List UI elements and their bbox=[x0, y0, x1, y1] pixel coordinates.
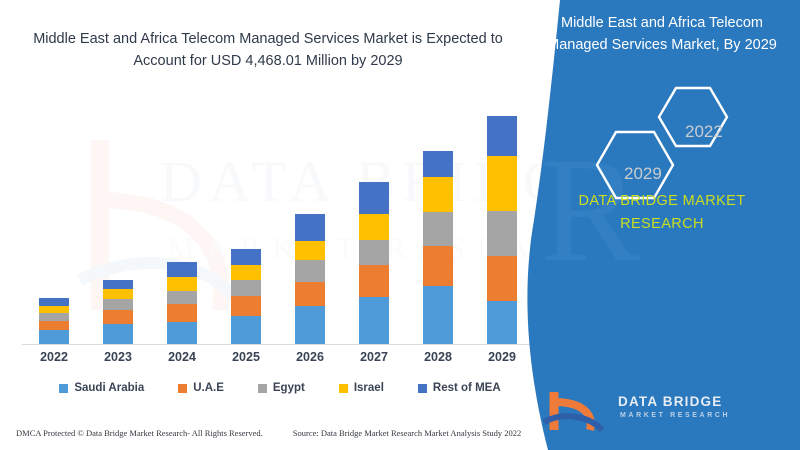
bar-segment-rest-of-mea-2027[interactable] bbox=[359, 182, 389, 214]
bar-2029[interactable] bbox=[487, 116, 517, 344]
legend-item-u-a-e[interactable]: U.A.E bbox=[178, 382, 224, 394]
x-axis-label-2029: 2029 bbox=[482, 350, 522, 364]
footer: DMCA Protected © Data Bridge Market Rese… bbox=[0, 428, 560, 438]
legend-swatch-saudi-arabia bbox=[59, 384, 68, 393]
legend-label-rest-of-mea: Rest of MEA bbox=[433, 382, 501, 394]
right-brand-panel: R Middle East and Africa Telecom Managed… bbox=[520, 0, 800, 450]
bar-segment-u-a-e-2023[interactable] bbox=[103, 310, 133, 324]
legend-label-saudi-arabia: Saudi Arabia bbox=[74, 382, 144, 394]
footer-source: Source: Data Bridge Market Research Mark… bbox=[293, 428, 522, 438]
bar-segment-saudi-arabia-2024[interactable] bbox=[167, 322, 197, 344]
brand-line-2: RESEARCH bbox=[540, 213, 784, 236]
bar-segment-israel-2024[interactable] bbox=[167, 277, 197, 291]
legend-swatch-egypt bbox=[258, 384, 267, 393]
logo-subtitle: MARKET RESEARCH bbox=[620, 412, 730, 419]
bar-segment-u-a-e-2025[interactable] bbox=[231, 296, 261, 316]
bar-segment-israel-2027[interactable] bbox=[359, 214, 389, 240]
bar-segment-u-a-e-2022[interactable] bbox=[39, 321, 69, 330]
brand-line-1: DATA BRIDGE MARKET bbox=[540, 190, 784, 213]
page-title: Middle East and Africa Telecom Managed S… bbox=[18, 28, 518, 73]
bar-segment-egypt-2023[interactable] bbox=[103, 299, 133, 310]
logo-title: DATA BRIDGE bbox=[618, 394, 722, 409]
x-axis-label-2028: 2028 bbox=[418, 350, 458, 364]
bar-segment-israel-2028[interactable] bbox=[423, 177, 453, 212]
bar-2024[interactable] bbox=[167, 262, 197, 344]
legend-label-u-a-e: U.A.E bbox=[193, 382, 224, 394]
company-logo: DATA BRIDGE MARKET RESEARCH bbox=[540, 388, 780, 436]
bar-segment-egypt-2027[interactable] bbox=[359, 240, 389, 265]
bar-segment-u-a-e-2028[interactable] bbox=[423, 246, 453, 286]
bar-segment-saudi-arabia-2027[interactable] bbox=[359, 297, 389, 344]
left-chart-panel: DATA BRIDGE MARKET RESEARCH Middle East … bbox=[0, 0, 560, 450]
bar-segment-egypt-2022[interactable] bbox=[39, 313, 69, 321]
x-axis-labels: 20222023202420252026202720282029 bbox=[22, 350, 534, 364]
bar-segment-rest-of-mea-2028[interactable] bbox=[423, 151, 453, 177]
bar-segment-u-a-e-2024[interactable] bbox=[167, 304, 197, 322]
bar-segment-u-a-e-2027[interactable] bbox=[359, 265, 389, 297]
bar-segment-rest-of-mea-2024[interactable] bbox=[167, 262, 197, 277]
infographic-page: DATA BRIDGE MARKET RESEARCH Middle East … bbox=[0, 0, 800, 450]
x-axis-label-2022: 2022 bbox=[34, 350, 74, 364]
bar-segment-rest-of-mea-2029[interactable] bbox=[487, 116, 517, 156]
bar-segment-saudi-arabia-2029[interactable] bbox=[487, 301, 517, 344]
bar-segment-rest-of-mea-2023[interactable] bbox=[103, 280, 133, 289]
data-bridge-logo-icon bbox=[540, 388, 610, 436]
bar-2028[interactable] bbox=[423, 151, 453, 344]
bar-segment-u-a-e-2029[interactable] bbox=[487, 256, 517, 301]
bar-segment-israel-2022[interactable] bbox=[39, 306, 69, 313]
x-axis-label-2024: 2024 bbox=[162, 350, 202, 364]
bar-group bbox=[22, 95, 534, 344]
bar-segment-saudi-arabia-2026[interactable] bbox=[295, 306, 325, 344]
hexagon-label-2022: 2022 bbox=[685, 122, 723, 142]
hexagon-shapes-icon bbox=[572, 80, 762, 205]
x-axis-label-2026: 2026 bbox=[290, 350, 330, 364]
bar-segment-egypt-2026[interactable] bbox=[295, 260, 325, 282]
legend-swatch-rest-of-mea bbox=[418, 384, 427, 393]
bar-segment-israel-2026[interactable] bbox=[295, 241, 325, 260]
legend-label-israel: Israel bbox=[354, 382, 384, 394]
legend-item-israel[interactable]: Israel bbox=[339, 382, 384, 394]
x-axis-label-2025: 2025 bbox=[226, 350, 266, 364]
bar-segment-israel-2023[interactable] bbox=[103, 289, 133, 299]
bar-2023[interactable] bbox=[103, 280, 133, 344]
bar-segment-saudi-arabia-2023[interactable] bbox=[103, 324, 133, 344]
brand-name: DATA BRIDGE MARKET RESEARCH bbox=[540, 190, 784, 236]
footer-copyright: DMCA Protected © Data Bridge Market Rese… bbox=[16, 428, 263, 438]
bar-2027[interactable] bbox=[359, 182, 389, 344]
bar-segment-saudi-arabia-2028[interactable] bbox=[423, 286, 453, 344]
bar-segment-saudi-arabia-2025[interactable] bbox=[231, 316, 261, 344]
bar-segment-u-a-e-2026[interactable] bbox=[295, 282, 325, 306]
legend-item-egypt[interactable]: Egypt bbox=[258, 382, 305, 394]
bar-segment-rest-of-mea-2022[interactable] bbox=[39, 298, 69, 306]
chart-legend: Saudi ArabiaU.A.EEgyptIsraelRest of MEA bbox=[30, 382, 530, 394]
x-axis-line bbox=[22, 344, 534, 345]
x-axis-label-2023: 2023 bbox=[98, 350, 138, 364]
bar-2026[interactable] bbox=[295, 214, 325, 344]
legend-swatch-u-a-e bbox=[178, 384, 187, 393]
legend-label-egypt: Egypt bbox=[273, 382, 305, 394]
x-axis-label-2027: 2027 bbox=[354, 350, 394, 364]
bar-segment-egypt-2029[interactable] bbox=[487, 211, 517, 256]
bar-segment-egypt-2024[interactable] bbox=[167, 291, 197, 304]
bar-segment-israel-2029[interactable] bbox=[487, 156, 517, 211]
legend-swatch-israel bbox=[339, 384, 348, 393]
bar-2022[interactable] bbox=[39, 298, 69, 344]
chart-plot-area bbox=[22, 95, 534, 345]
bar-segment-saudi-arabia-2022[interactable] bbox=[39, 330, 69, 344]
bar-2025[interactable] bbox=[231, 249, 261, 344]
hexagon-label-2029: 2029 bbox=[624, 164, 662, 184]
bar-segment-rest-of-mea-2025[interactable] bbox=[231, 249, 261, 265]
bar-segment-israel-2025[interactable] bbox=[231, 265, 261, 280]
right-panel-title: Middle East and Africa Telecom Managed S… bbox=[542, 12, 782, 57]
bar-segment-egypt-2028[interactable] bbox=[423, 212, 453, 246]
bar-segment-egypt-2025[interactable] bbox=[231, 280, 261, 296]
legend-item-saudi-arabia[interactable]: Saudi Arabia bbox=[59, 382, 144, 394]
legend-item-rest-of-mea[interactable]: Rest of MEA bbox=[418, 382, 501, 394]
bar-segment-rest-of-mea-2026[interactable] bbox=[295, 214, 325, 241]
hexagon-group: 2022 2029 bbox=[572, 80, 762, 205]
